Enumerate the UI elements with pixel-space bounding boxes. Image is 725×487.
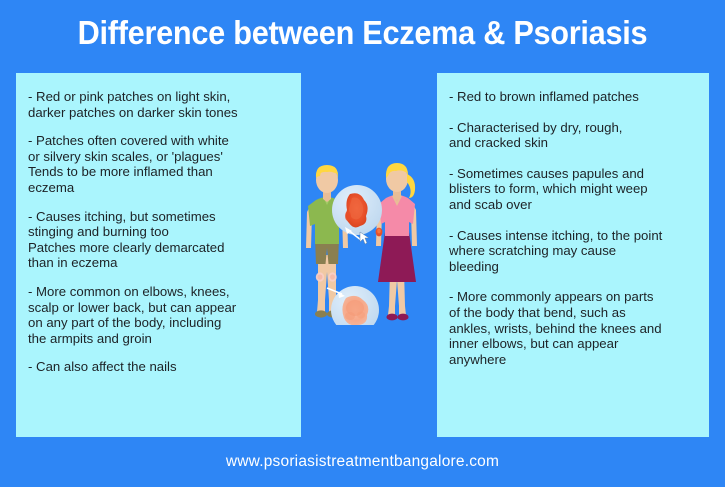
list-item: - More commonly appears on parts of the …	[449, 289, 697, 367]
magnifier-knee-patch	[327, 286, 379, 325]
list-item: - Red or pink patches on light skin, dar…	[28, 89, 289, 120]
infographic-canvas: Difference between Eczema & Psoriasis - …	[0, 0, 725, 487]
list-item: - Can also affect the nails	[28, 359, 289, 375]
left-symptom-panel: - Red or pink patches on light skin, dar…	[16, 73, 301, 437]
list-item: - More common on elbows, knees, scalp or…	[28, 284, 289, 346]
list-item: - Causes itching, but sometimes stinging…	[28, 209, 289, 271]
central-illustration	[300, 160, 440, 325]
list-item: - Sometimes causes papules and blisters …	[449, 166, 697, 213]
list-item: - Patches often covered with white or si…	[28, 133, 289, 195]
female-figure	[376, 163, 417, 320]
list-item: - Causes intense itching, to the point w…	[449, 228, 697, 275]
list-item: - Red to brown inflamed patches	[449, 89, 697, 105]
footer-website-url[interactable]: www.psoriasistreatmentbangalore.com	[0, 453, 725, 471]
right-symptom-panel: - Red to brown inflamed patches - Charac…	[437, 73, 709, 437]
page-title: Difference between Eczema & Psoriasis	[25, 14, 699, 52]
magnifier-arm-patch	[332, 185, 382, 244]
list-item: - Characterised by dry, rough, and crack…	[449, 120, 697, 151]
